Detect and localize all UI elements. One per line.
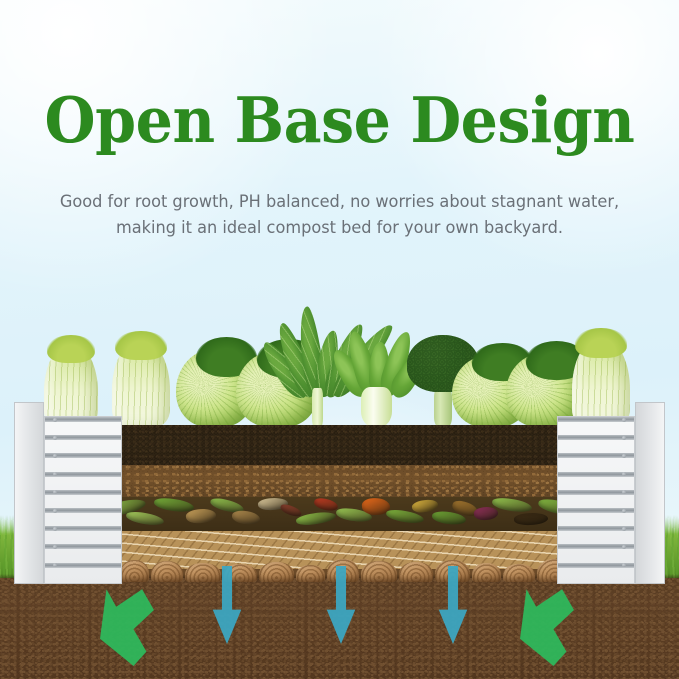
panel-screw — [622, 545, 626, 549]
panel-screw — [53, 527, 57, 531]
panel-screw — [53, 509, 57, 513]
left-corner-post — [14, 402, 44, 584]
left-panel — [14, 402, 122, 584]
soil-cross-section — [100, 425, 580, 580]
compost-scrap — [153, 497, 194, 513]
panel-screw — [622, 509, 626, 513]
layer-kitchen-scraps — [100, 497, 580, 531]
right-panel — [557, 402, 665, 584]
log-end — [120, 560, 149, 582]
plant-bok-choy — [344, 323, 410, 427]
airflow-arrow-up-right — [520, 586, 574, 666]
log-end — [361, 561, 397, 582]
compost-scrap — [514, 512, 549, 527]
log-end — [259, 562, 294, 582]
panel-screw — [622, 418, 626, 422]
panel-screw — [53, 454, 57, 458]
right-corner-post — [635, 402, 665, 584]
page-title: Open Base Design — [24, 88, 655, 152]
panel-screw — [622, 436, 626, 440]
compost-scrap — [125, 510, 164, 526]
log-end — [472, 563, 501, 582]
left-slat-stack — [44, 416, 122, 584]
bok-choy-stalk — [361, 387, 391, 427]
airflow-arrow-down-3 — [432, 566, 474, 644]
panel-screw — [622, 454, 626, 458]
panel-screw — [53, 545, 57, 549]
chard-stalk — [312, 388, 323, 427]
page-subtitle: Good for root growth, PH balanced, no wo… — [45, 189, 634, 241]
compost-scrap — [313, 497, 339, 512]
log-end — [399, 562, 433, 582]
panel-screw — [53, 418, 57, 422]
airflow-arrow-down-1 — [206, 566, 248, 644]
compost-scrap — [232, 510, 261, 525]
panel-screw — [622, 527, 626, 531]
right-slat-stack — [557, 416, 635, 584]
infographic-canvas: Open Base Design Good for root growth, P… — [0, 0, 679, 679]
log-end — [151, 561, 183, 582]
airflow-arrow-up-left — [100, 586, 154, 666]
log-end — [503, 564, 535, 582]
panel-screw — [53, 436, 57, 440]
airflow-arrow-down-2 — [320, 566, 362, 644]
compost-scrap — [473, 505, 499, 521]
layer-compost-soil — [100, 465, 580, 497]
layer-topsoil — [100, 425, 580, 465]
